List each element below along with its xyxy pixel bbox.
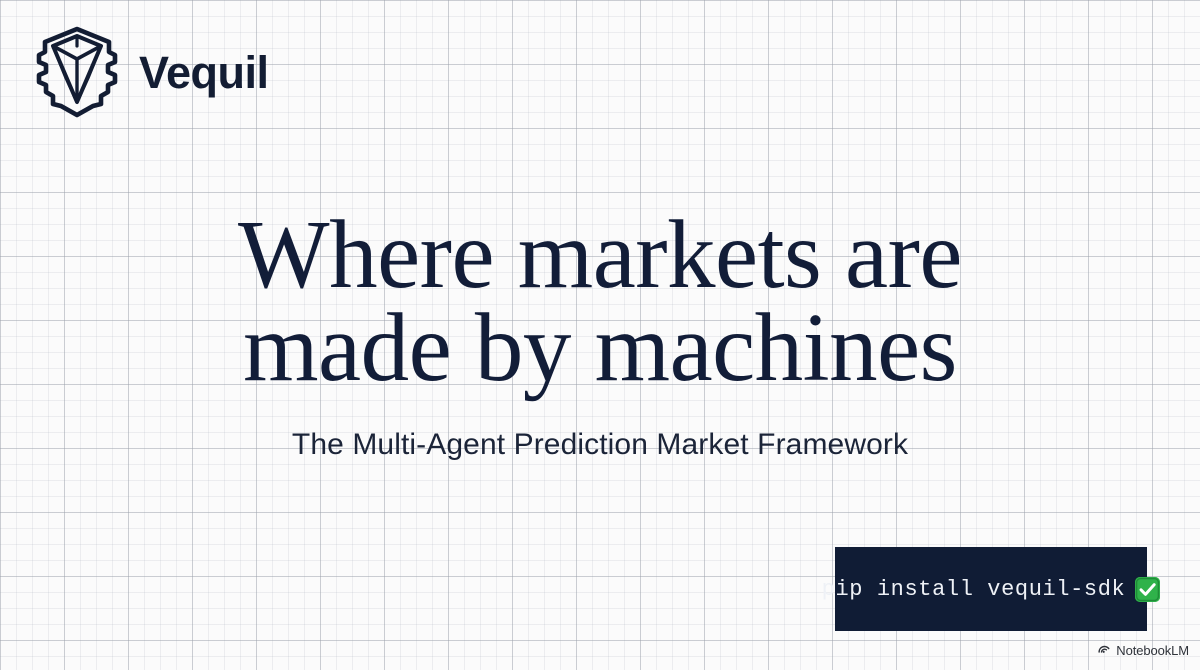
install-command-text: pip install vequil-sdk [822,577,1126,602]
install-command-badge[interactable]: pip install vequil-sdk [835,547,1147,631]
brand-lockup: Vequil [33,26,269,118]
brand-name: Vequil [139,50,269,95]
page-subtitle: The Multi-Agent Prediction Market Framew… [0,428,1200,462]
headline-line-1: Where markets are [0,208,1200,301]
white-check-mark-emoji-icon [1135,577,1160,602]
headline-line-2: made by machines [0,301,1200,394]
vequil-gear-shield-logo-icon [33,26,121,118]
notebooklm-watermark: NotebookLM [1097,641,1189,660]
slide-canvas: Vequil Where markets are made by machine… [0,0,1200,670]
page-title: Where markets are made by machines [0,208,1200,394]
notebooklm-icon [1097,641,1111,660]
notebooklm-label: NotebookLM [1116,643,1189,658]
